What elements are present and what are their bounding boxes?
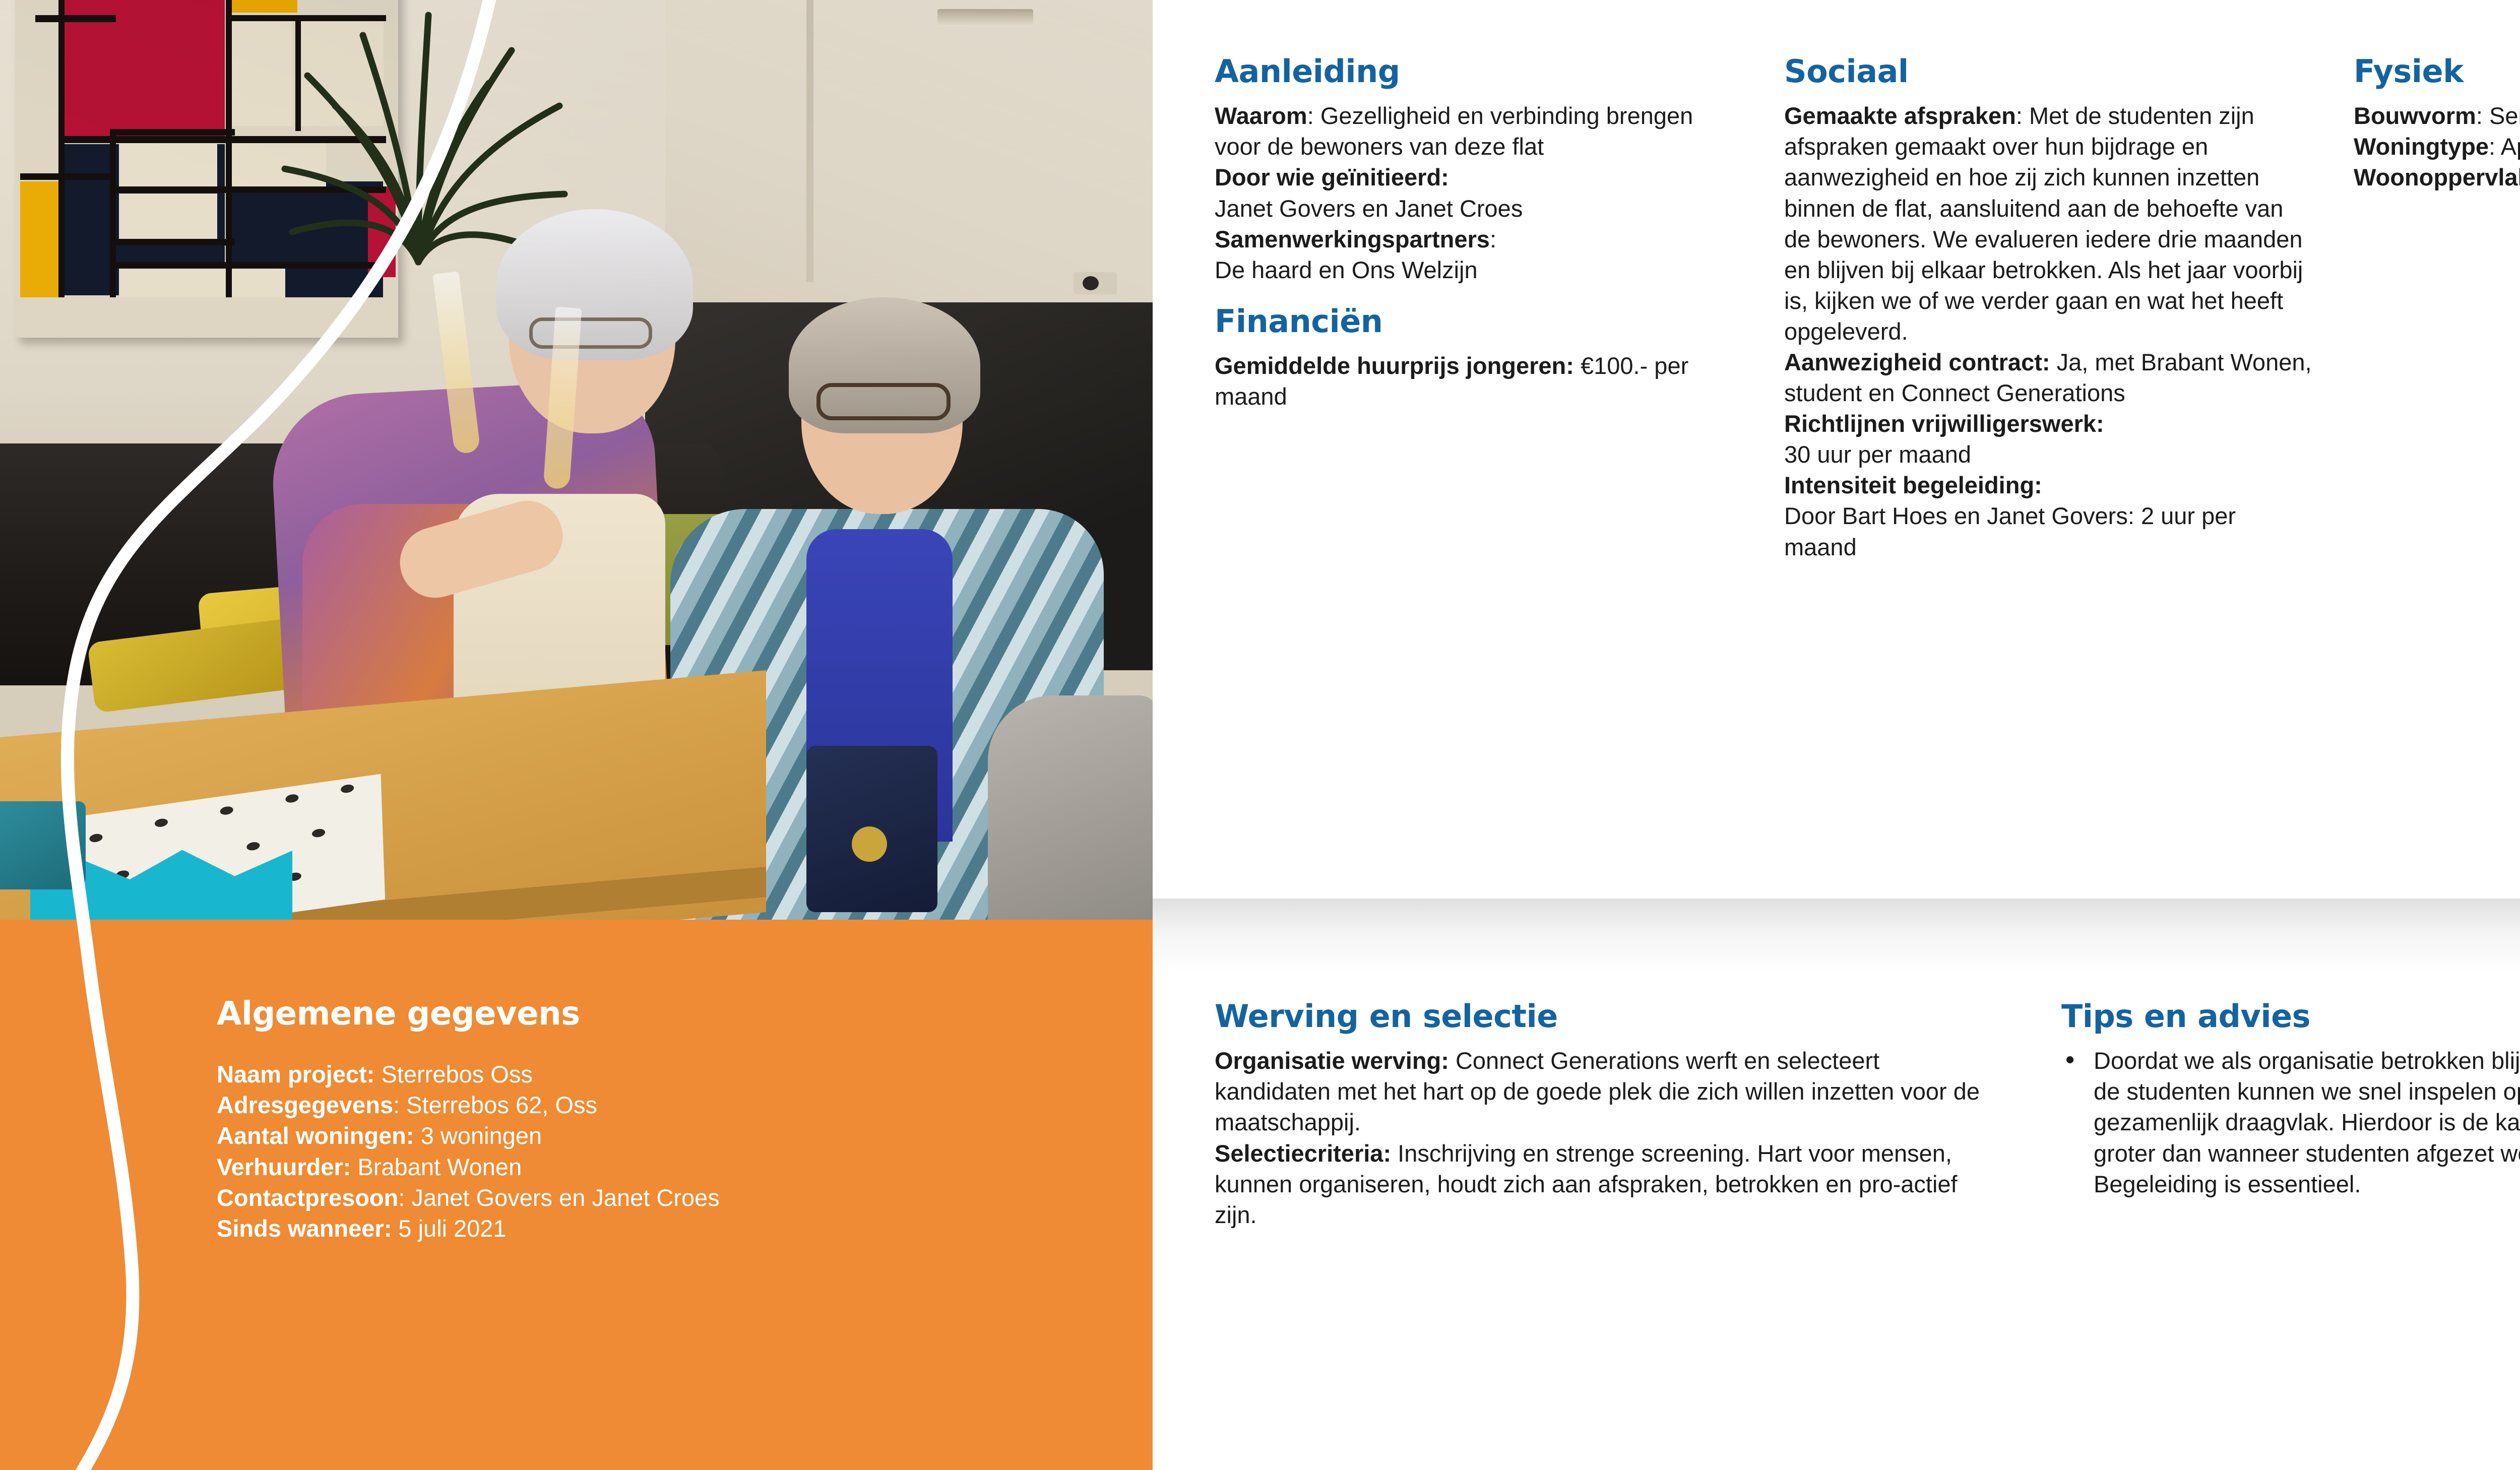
field-aantal-woningen: Aantal woningen: 3 woningen: [217, 1120, 1043, 1151]
field-naam-project: Naam project: Sterrebos Oss: [217, 1059, 1043, 1090]
field-initiatief-value: Janet Govers en Janet Croes: [1215, 195, 1523, 222]
resident-right-glasses: [816, 383, 951, 420]
field-verhuurder-sep: [351, 1154, 357, 1180]
grey-chair: [988, 695, 1153, 920]
section-title-fysiek: Fysiek: [2354, 55, 2520, 87]
project-photo: [0, 0, 1153, 920]
field-woningtype-label: Woningtype: [2354, 133, 2489, 160]
wall-outlet: [1074, 272, 1117, 294]
field-partners-value: De haard en Ons Welzijn: [1215, 257, 1478, 283]
section-body-werving-en-selectie: Organisatie werving: Connect Generations…: [1215, 1045, 2001, 1230]
section-title-tips-en-advies: Tips en advies: [2061, 1000, 2520, 1032]
teal-mug: [0, 801, 86, 889]
field-adres: Adresgegevens: Sterrebos 62, Oss: [217, 1090, 1043, 1120]
wall-corner-edge: [806, 0, 813, 282]
tips-list: Doordat we als organisatie betrokken bli…: [2061, 1045, 2520, 1199]
field-contactpersoon-sep: :: [398, 1184, 411, 1211]
field-woningtype-value: Appartement: [2501, 133, 2520, 160]
field-aantal-woningen-label: Aantal woningen:: [217, 1122, 414, 1149]
column-sociaal: Sociaal Gemaakte afspraken: Met de stude…: [1784, 55, 2313, 562]
section-title-sociaal: Sociaal: [1784, 55, 2313, 87]
field-bouwvorm-label: Bouwvorm: [2354, 102, 2476, 129]
section-body-aanleiding: Waarom: Gezelligheid en verbinding breng…: [1215, 100, 1729, 285]
field-sinds-wanneer-label: Sinds wanneer:: [217, 1215, 392, 1242]
field-richtlijnen: Richtlijnen vrijwilligerswerk:30 uur per…: [1784, 408, 2313, 470]
field-waarom-label: Waarom: [1215, 102, 1307, 129]
section-body-financien: Gemiddelde huurprijs jongeren: €100.- pe…: [1215, 350, 1729, 412]
field-organisatie-werving-sep: [1449, 1047, 1456, 1074]
field-aantal-woningen-value: 3 woningen: [421, 1122, 542, 1149]
field-woningtype-sep: :: [2489, 133, 2501, 160]
section-body-algemene-gegevens: Naam project: Sterrebos Oss Adresgegeven…: [217, 1059, 1043, 1244]
field-bouwvorm: Bouwvorm: Seniorencomplex/serviceflat: [2354, 100, 2520, 131]
field-contract-sep: [2050, 349, 2057, 375]
section-title-algemene-gegevens: Algemene gegevens: [217, 998, 1043, 1031]
field-afspraken-sep: :: [2016, 102, 2029, 129]
spacer: [1215, 285, 1729, 305]
field-afspraken: Gemaakte afspraken: Met de studenten zij…: [1784, 100, 2313, 347]
column-fysiek: Fysiek Bouwvorm: Seniorencomplex/service…: [2354, 55, 2520, 193]
field-partners: Samenwerkingspartners: De haard en Ons W…: [1215, 224, 1729, 285]
field-organisatie-werving-label: Organisatie werving:: [1215, 1047, 1449, 1074]
field-sinds-wanneer-sep: [392, 1215, 398, 1242]
section-title-werving-en-selectie: Werving en selectie: [1215, 1000, 2001, 1032]
field-adres-label: Adresgegevens: [217, 1092, 393, 1118]
section-title-financien: Financiën: [1215, 305, 1729, 337]
field-woonoppervlakte-label: Woonoppervlakte: [2354, 164, 2520, 190]
field-contactpersoon: Contactpresoon: Janet Govers en Janet Cr…: [217, 1182, 1043, 1213]
field-richtlijnen-value: 30 uur per maand: [1784, 441, 1971, 468]
field-contract: Aanwezigheid contract: Ja, met Brabant W…: [1784, 347, 2313, 408]
field-organisatie-werving: Organisatie werving: Connect Generations…: [1215, 1045, 2001, 1137]
field-contactpersoon-label: Contactpresoon: [217, 1184, 398, 1211]
field-naam-project-sep: [374, 1061, 381, 1088]
field-aantal-woningen-sep: [414, 1122, 421, 1149]
column-werving-en-selectie: Werving en selectie Organisatie werving:…: [1215, 1000, 2001, 1230]
field-naam-project-label: Naam project:: [217, 1061, 374, 1088]
column-algemene-gegevens: Algemene gegevens Naam project: Sterrebo…: [217, 998, 1043, 1244]
field-verhuurder: Verhuurder: Brabant Wonen: [217, 1152, 1043, 1182]
column-aanleiding: Aanleiding Waarom: Gezelligheid en verbi…: [1215, 55, 1729, 412]
field-waarom-sep: :: [1307, 102, 1320, 129]
field-huurprijs-label: Gemiddelde huurprijs jongeren:: [1215, 352, 1574, 379]
field-selectiecriteria: Selectiecriteria: Inschrijving en streng…: [1215, 1138, 2001, 1230]
field-sinds-wanneer-value: 5 juli 2021: [398, 1215, 506, 1242]
field-richtlijnen-label: Richtlijnen vrijwilligerswerk:: [1784, 410, 2104, 437]
field-contract-label: Aanwezigheid contract:: [1784, 349, 2050, 375]
photo-scene: [0, 0, 1153, 920]
field-bouwvorm-sep: :: [2476, 102, 2489, 129]
field-verhuurder-label: Verhuurder:: [217, 1154, 351, 1180]
field-huurprijs: Gemiddelde huurprijs jongeren: €100.- pe…: [1215, 350, 1729, 412]
field-huurprijs-sep: [1574, 352, 1581, 379]
section-body-sociaal: Gemaakte afspraken: Met de studenten zij…: [1784, 100, 2313, 562]
field-woonoppervlakte: Woonoppervlakte: 40 m²: [2354, 162, 2520, 193]
field-begeleiding: Intensiteit begeleiding:Door Bart Hoes e…: [1784, 470, 2313, 562]
field-verhuurder-value: Brabant Wonen: [357, 1154, 522, 1180]
field-selectiecriteria-label: Selectiecriteria:: [1215, 1140, 1391, 1167]
field-begeleiding-value: Door Bart Hoes en Janet Govers: 2 uur pe…: [1784, 502, 2236, 560]
field-partners-label: Samenwerkingspartners: [1215, 226, 1490, 252]
field-initiatief: Door wie geïnitieerd:Janet Govers en Jan…: [1215, 162, 1729, 223]
field-sinds-wanneer: Sinds wanneer: 5 juli 2021: [217, 1213, 1043, 1244]
field-bouwvorm-value: Seniorencomplex/serviceflat: [2489, 102, 2520, 129]
bag-logo: [852, 826, 887, 862]
field-waarom: Waarom: Gezelligheid en verbinding breng…: [1215, 100, 1729, 162]
field-adres-sep: :: [393, 1092, 406, 1118]
field-woningtype: Woningtype: Appartement: [2354, 131, 2520, 162]
list-item: Doordat we als organisatie betrokken bli…: [2061, 1045, 2520, 1199]
ceiling-light: [937, 9, 1033, 26]
resident-left-glasses: [529, 317, 652, 349]
field-afspraken-label: Gemaakte afspraken: [1784, 102, 2016, 129]
section-body-fysiek: Bouwvorm: Seniorencomplex/serviceflat Wo…: [2354, 100, 2520, 193]
field-begeleiding-label: Intensiteit begeleiding:: [1784, 472, 2042, 498]
column-tips-en-advies: Tips en advies Doordat we als organisati…: [2061, 1000, 2520, 1199]
field-adres-value: Sterrebos 62, Oss: [406, 1092, 597, 1118]
field-afspraken-value: Met de studenten zijn afspraken gemaakt …: [1784, 102, 2303, 345]
panel-drop-shadow: [1153, 899, 2520, 974]
project-factsheet-page: Aanleiding Waarom: Gezelligheid en verbi…: [0, 0, 2520, 1470]
field-selectiecriteria-sep: [1391, 1140, 1398, 1167]
field-initiatief-label: Door wie geïnitieerd:: [1215, 164, 1449, 190]
section-title-aanleiding: Aanleiding: [1215, 55, 1729, 87]
field-partners-sep: :: [1490, 226, 1496, 252]
field-contactpersoon-value: Janet Govers en Janet Croes: [411, 1184, 719, 1211]
field-naam-project-value: Sterrebos Oss: [381, 1061, 532, 1088]
